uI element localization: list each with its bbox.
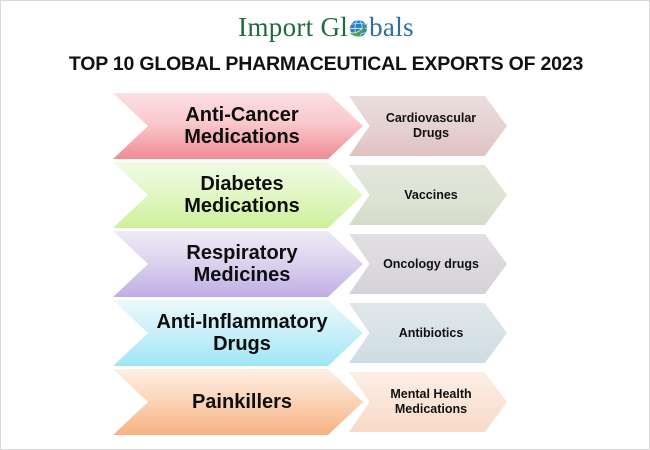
table-row: Anti-Inflammatory Drugs Antibiotics <box>1 300 650 368</box>
secondary-chevron-label: Vaccines <box>404 188 458 203</box>
primary-chevron-label: Diabetes Medications <box>143 173 341 218</box>
secondary-chevron-label: Cardiovascular Drugs <box>371 111 491 141</box>
logo-text-after: bals <box>369 12 414 42</box>
chevron-rows: Anti-Cancer Medications Cardiovascular D… <box>1 93 650 438</box>
table-row: Anti-Cancer Medications Cardiovascular D… <box>1 93 650 161</box>
secondary-chevron-2[interactable]: Vaccines <box>349 165 507 225</box>
secondary-chevron-5[interactable]: Mental Health Medications <box>349 372 507 432</box>
primary-chevron-label: Anti-Cancer Medications <box>143 104 341 149</box>
table-row: Diabetes Medications Vaccines <box>1 162 650 230</box>
logo-text: Import Glbals <box>238 9 414 45</box>
primary-chevron-label: Painkillers <box>192 391 292 413</box>
logo-text-before: Import Gl <box>238 12 348 42</box>
infographic-page: Import Glbals TOP 10 GLOBAL PHARMACEUTIC… <box>0 0 650 450</box>
table-row: Respiratory Medicines Oncology drugs <box>1 231 650 299</box>
primary-chevron-label: Respiratory Medicines <box>143 242 341 287</box>
globe-icon <box>348 12 369 33</box>
secondary-chevron-label: Mental Health Medications <box>371 387 491 417</box>
primary-chevron-1[interactable]: Anti-Cancer Medications <box>113 93 363 159</box>
primary-chevron-2[interactable]: Diabetes Medications <box>113 162 363 228</box>
page-title: TOP 10 GLOBAL PHARMACEUTICAL EXPORTS OF … <box>1 53 650 76</box>
secondary-chevron-1[interactable]: Cardiovascular Drugs <box>349 96 507 156</box>
secondary-chevron-3[interactable]: Oncology drugs <box>349 234 507 294</box>
primary-chevron-4[interactable]: Anti-Inflammatory Drugs <box>113 300 363 366</box>
brand-logo: Import Glbals <box>1 9 650 45</box>
secondary-chevron-label: Antibiotics <box>399 326 464 341</box>
primary-chevron-5[interactable]: Painkillers <box>113 369 363 435</box>
primary-chevron-label: Anti-Inflammatory Drugs <box>143 311 341 356</box>
table-row: Painkillers Mental Health Medications <box>1 369 650 437</box>
secondary-chevron-label: Oncology drugs <box>383 257 479 272</box>
secondary-chevron-4[interactable]: Antibiotics <box>349 303 507 363</box>
primary-chevron-3[interactable]: Respiratory Medicines <box>113 231 363 297</box>
